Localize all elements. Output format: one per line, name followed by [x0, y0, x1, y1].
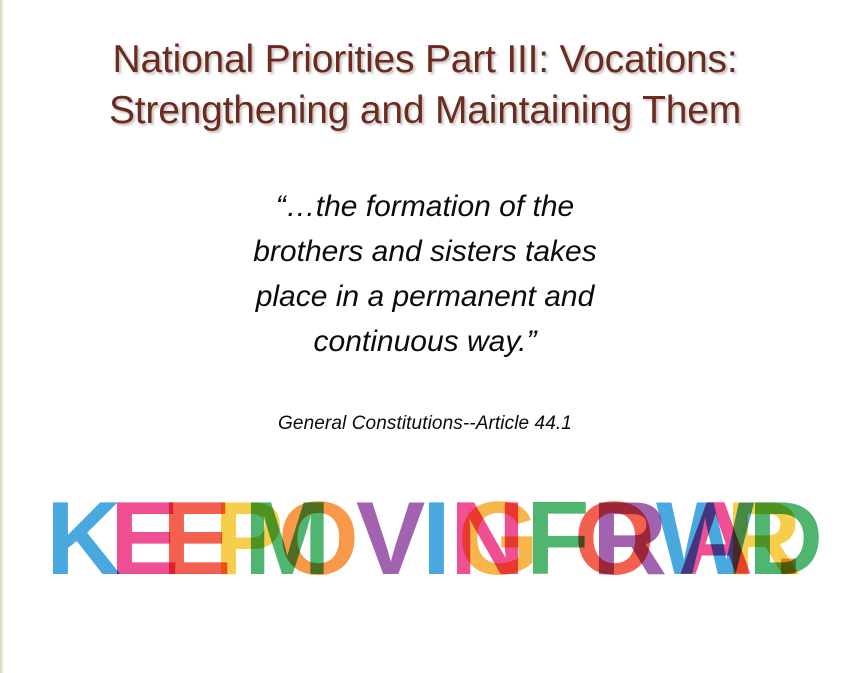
logo-letter: V: [356, 488, 425, 588]
logo-wordmark-graphic: KEEPMOVINGFORWARD.: [26, 488, 838, 588]
quote-line-1: “…the formation of the: [0, 184, 850, 229]
logo-letter: .: [774, 488, 803, 588]
slide-canvas: National Priorities Part III: Vocations:…: [0, 0, 850, 673]
quote-line-4: continuous way.”: [0, 319, 850, 364]
quote-line-2: brothers and sisters takes: [0, 229, 850, 274]
title-line-2: Strengthening and Maintaining Them: [22, 85, 828, 136]
logo-letter: I: [422, 488, 451, 588]
keep-moving-forward-logo: KEEPMOVINGFORWARD. KEEP MOVING FORWARD.: [26, 488, 838, 588]
logo-letter-group: KEEPMOVINGFORWARD.: [46, 488, 823, 588]
title-line-1: National Priorities Part III: Vocations:: [22, 34, 828, 85]
page-title: National Priorities Part III: Vocations:…: [0, 34, 850, 136]
quote-attribution: General Constitutions--Article 44.1: [0, 411, 850, 437]
logo-letter: O: [278, 488, 359, 588]
quote-line-3: place in a permanent and: [0, 274, 850, 319]
quote-text: “…the formation of the brothers and sist…: [0, 184, 850, 364]
